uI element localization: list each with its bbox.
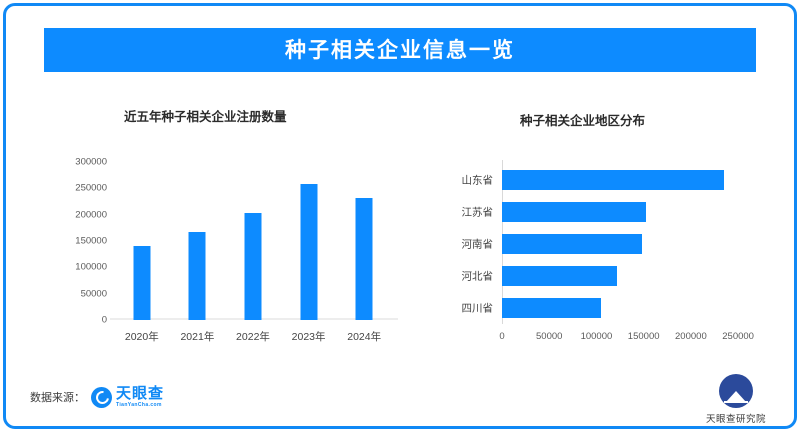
x-axis-tick-label: 0 [499,331,504,342]
bar-group: 2024年 [336,162,392,320]
bar-group: 河北省 [502,260,757,292]
bar-group: 山东省 [502,164,757,196]
bar [502,170,724,190]
x-axis-tick-label: 50000 [536,331,562,342]
institute-mountain-icon [719,374,753,408]
x-axis-tick-label: 2023年 [292,329,326,344]
bar [133,246,150,320]
y-axis-tick-label: 河南省 [462,237,494,252]
bar [189,232,206,320]
y-axis-tick-label: 250000 [75,183,107,194]
x-axis-tick-label: 2024年 [347,329,381,344]
tianyancha-name-cn: 天眼查 [116,386,164,401]
infographic-card: 种子相关企业信息一览 近五年种子相关企业注册数量 050000100000150… [0,0,800,432]
bar-group: 江苏省 [502,196,757,228]
bar [502,202,646,222]
y-axis-tick-label: 山东省 [462,173,494,188]
bar [244,213,261,320]
x-axis-tick-label: 2022年 [236,329,270,344]
institute-name: 天眼查研究院 [706,411,766,425]
registrations-chart-panel: 近五年种子相关企业注册数量 05000010000015000020000025… [48,92,408,362]
x-axis-tick-label: 150000 [628,331,660,342]
bar [502,266,617,286]
y-axis-tick-label: 四川省 [462,301,494,316]
y-axis-tick-label: 200000 [75,209,107,220]
bar-group: 2020年 [114,162,170,320]
bar [300,184,317,320]
bar [502,234,642,254]
bar-group: 河南省 [502,228,757,260]
y-axis-tick-label: 150000 [75,236,107,247]
y-axis-tick-label: 50000 [81,288,107,299]
bar-group: 2021年 [170,162,226,320]
bar-group: 2022年 [225,162,281,320]
y-axis-tick-label: 300000 [75,157,107,168]
x-axis-tick-label: 250000 [722,331,754,342]
bar [502,298,601,318]
title-banner: 种子相关企业信息一览 [44,28,756,72]
data-source-label: 数据来源： [30,389,85,405]
region-bar-chart: 山东省江苏省河南省河北省四川省0500001000001500002000002… [502,164,757,324]
tianyancha-wordmark: 天眼查 TianYanCha.com [116,386,164,408]
y-axis-tick-label: 江苏省 [462,205,494,220]
y-axis-tick-label: 河北省 [462,269,494,284]
region-chart-title: 种子相关企业地区分布 [520,110,645,129]
y-axis-tick-label: 100000 [75,262,107,273]
tianyancha-eye-icon [91,387,112,408]
data-source: 数据来源： 天眼查 TianYanCha.com [30,386,164,408]
x-axis-tick-label: 2021年 [180,329,214,344]
bar-group: 四川省 [502,292,757,324]
y-axis-tick-label: 0 [102,315,107,326]
bar-group: 2023年 [281,162,337,320]
registrations-bar-chart: 0500001000001500002000002500003000002020… [114,162,392,320]
registrations-chart-title: 近五年种子相关企业注册数量 [124,106,287,125]
tianyancha-logo: 天眼查 TianYanCha.com [91,386,164,408]
bar [356,198,373,320]
x-axis-tick-label: 200000 [675,331,707,342]
tianyancha-name-en: TianYanCha.com [116,403,164,408]
x-axis-tick-label: 2020年 [125,329,159,344]
region-chart-panel: 种子相关企业地区分布 山东省江苏省河南省河北省四川省05000010000015… [430,92,770,362]
institute-logo: 天眼查研究院 [694,374,778,425]
x-axis-tick-label: 100000 [581,331,613,342]
page-title: 种子相关企业信息一览 [285,40,515,61]
